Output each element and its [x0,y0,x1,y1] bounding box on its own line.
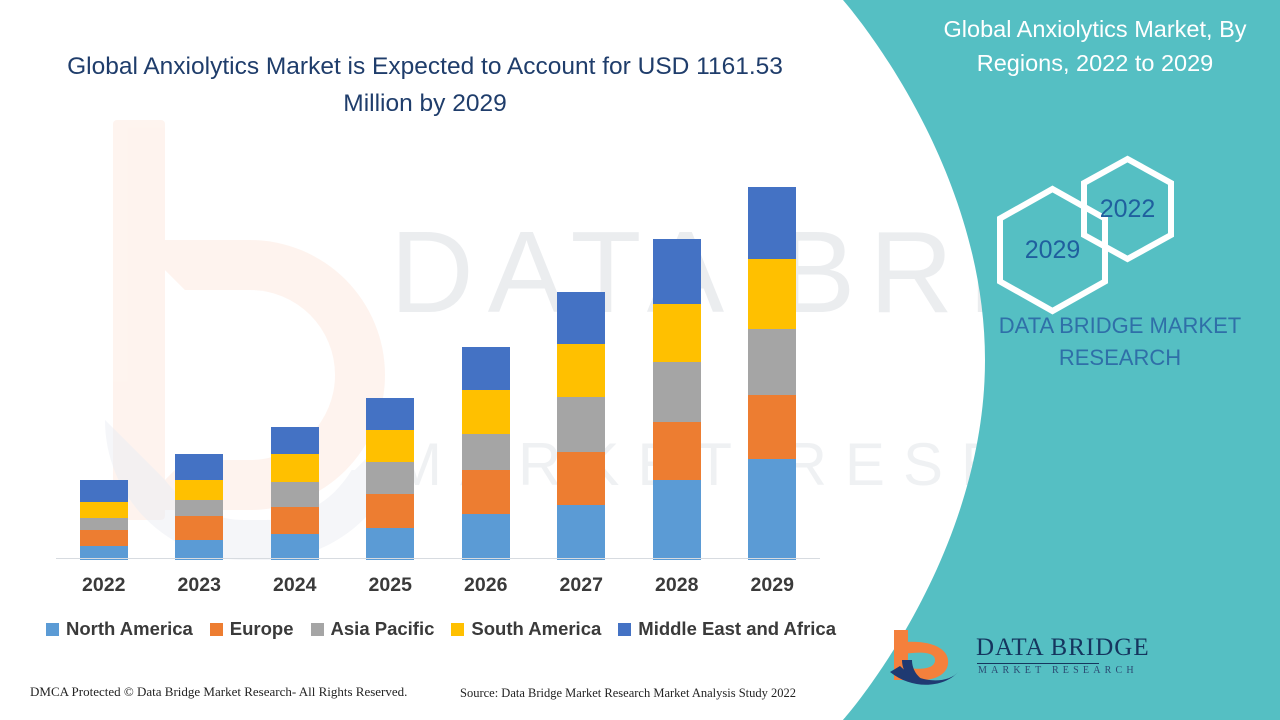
bar-segment [748,259,796,329]
hexagon-end-year-label: 2029 [1025,236,1081,265]
bar-stack [462,347,510,560]
bar-segment [366,398,414,430]
hexagon-start-year-label: 2022 [1100,195,1156,224]
bar-stack [80,480,128,560]
chart-title: Global Anxiolytics Market is Expected to… [60,48,790,122]
bar-stack [271,427,319,560]
legend-item[interactable]: South America [451,618,601,640]
data-bridge-logo: DATA BRIDGE MARKET RESEARCH [888,628,1103,690]
x-axis-tick-label: 2022 [56,574,152,597]
bar-segment [462,434,510,470]
bar-stack [175,454,223,560]
bar-segment [175,480,223,500]
bar-segment [557,505,605,560]
bar-segment [366,494,414,528]
bar-segment [557,292,605,344]
x-axis-tick-label: 2028 [629,574,725,597]
bar-segment [462,514,510,560]
footer-dmca-notice: DMCA Protected © Data Bridge Market Rese… [30,684,407,700]
bar-segment [271,427,319,454]
bar-segment [557,344,605,397]
logo-divider [977,663,1099,664]
bar-segment [80,530,128,546]
legend-item[interactable]: Middle East and Africa [618,618,836,640]
x-axis-tick-label: 2024 [247,574,343,597]
chart-plot-area [56,160,820,560]
logo-wordmark: DATA BRIDGE [976,634,1150,662]
legend-item[interactable]: Asia Pacific [311,618,435,640]
legend-item[interactable]: Europe [210,618,294,640]
bar-segment [80,518,128,530]
bar-segment [748,395,796,459]
bar-segment [271,482,319,507]
bar-segment [80,480,128,502]
panel-brand-text: DATA BRIDGE MARKET RESEARCH [960,310,1280,374]
bar-stack [748,187,796,560]
bar-segment [175,454,223,480]
x-axis-tick-label: 2023 [151,574,247,597]
bar-stack [653,239,701,560]
x-axis-tick-label: 2029 [724,574,820,597]
bar-segment [175,500,223,516]
bar-segment [653,304,701,362]
chart-baseline [56,558,820,559]
bar-segment [462,347,510,390]
legend-swatch-icon [618,623,631,636]
hexagon-badge-start-year: 2022 [1080,155,1175,263]
legend-swatch-icon [46,623,59,636]
bar-segment [653,362,701,422]
bar-segment [271,454,319,482]
x-axis-tick-label: 2026 [438,574,534,597]
bar-stack [366,398,414,560]
bar-segment [175,540,223,560]
bar-segment [557,397,605,452]
bar-segment [175,516,223,540]
logo-tagline: MARKET RESEARCH [978,665,1138,676]
legend-label: Middle East and Africa [638,618,836,640]
footer-source-note: Source: Data Bridge Market Research Mark… [460,686,796,701]
legend-label: North America [66,618,193,640]
bar-segment [271,534,319,560]
bar-segment [653,480,701,560]
legend-label: Asia Pacific [331,618,435,640]
bar-segment [366,528,414,560]
bar-segment [271,507,319,534]
legend-swatch-icon [210,623,223,636]
panel-title: Global Anxiolytics Market, By Regions, 2… [925,12,1265,80]
chart-legend: North AmericaEuropeAsia PacificSouth Ame… [56,614,826,644]
infographic-canvas: DATA BRIDGE MARKET RESEARCH Global Anxio… [0,0,1280,720]
bar-segment [462,390,510,434]
legend-label: South America [471,618,601,640]
bar-segment [653,239,701,304]
bar-segment [366,462,414,494]
legend-swatch-icon [311,623,324,636]
bar-segment [653,422,701,480]
bar-segment [366,430,414,462]
bar-segment [462,470,510,514]
x-axis-tick-label: 2027 [533,574,629,597]
bar-segment [748,187,796,259]
x-axis-labels: 20222023202420252026202720282029 [56,566,820,602]
bar-segment [748,459,796,560]
bar-segment [80,502,128,518]
bar-segment [557,452,605,505]
legend-label: Europe [230,618,294,640]
legend-item[interactable]: North America [46,618,193,640]
bar-segment [748,329,796,395]
bar-stack [557,292,605,560]
x-axis-tick-label: 2025 [342,574,438,597]
logo-mark-icon [888,628,966,690]
legend-swatch-icon [451,623,464,636]
